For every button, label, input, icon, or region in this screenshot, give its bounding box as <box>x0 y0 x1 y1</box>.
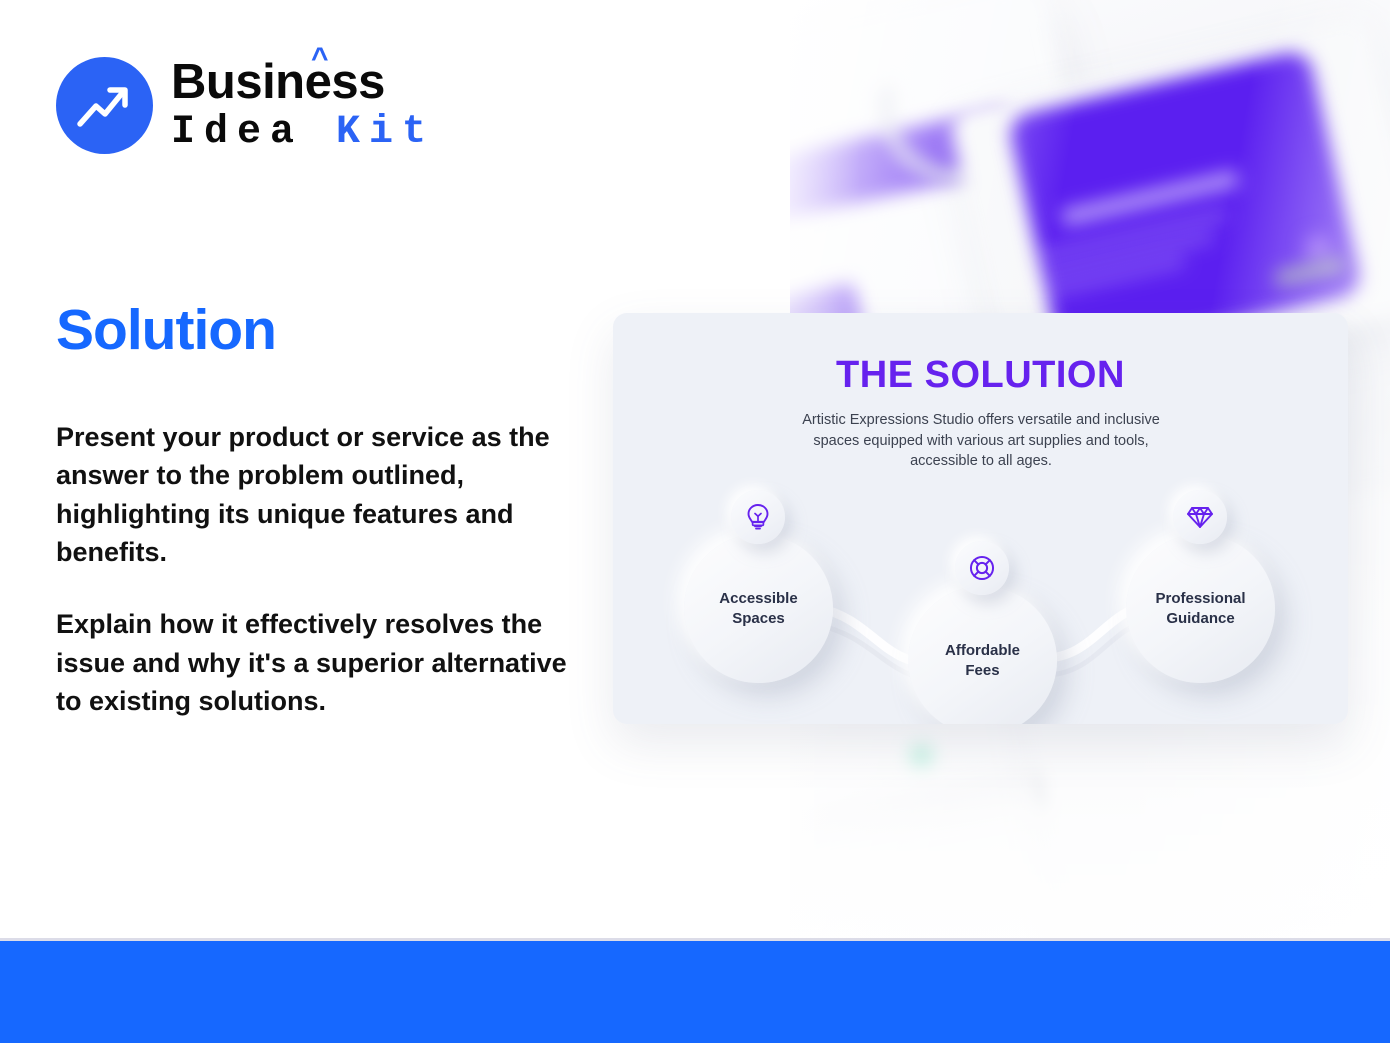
lightbulb-icon <box>731 490 785 544</box>
bubble-label-2-line2: Fees <box>965 662 999 679</box>
bubble-professional-guidance[interactable]: Professional Guidance <box>1126 534 1275 683</box>
bubble-affordable-fees[interactable]: Affordable Fees <box>908 586 1057 724</box>
solution-card: THE SOLUTION Artistic Expressions Studio… <box>613 313 1348 724</box>
brand-wordmark: Business ^ Idea Kit <box>171 58 435 153</box>
bubble-label-3-line2: Guidance <box>1166 610 1234 627</box>
brand-line-2-dark: Idea <box>171 110 303 155</box>
bubble-label-1-line1: Accessible <box>719 590 797 607</box>
brand-line-1: Business ^ <box>171 58 435 107</box>
bubble-label-3: Professional Guidance <box>1155 589 1245 627</box>
bubble-label-1-line2: Spaces <box>732 610 785 627</box>
footer-bar <box>0 941 1390 1043</box>
brand-circumflex-accent: ^ <box>311 44 328 74</box>
body-paragraph-1: Present your product or service as the a… <box>56 418 586 571</box>
body-copy: Present your product or service as the a… <box>56 418 586 720</box>
slide-root: Business ^ Idea Kit Solution Present you… <box>0 0 1390 1043</box>
diamond-icon <box>1173 490 1227 544</box>
page-title: Solution <box>56 297 276 363</box>
body-paragraph-2: Explain how it effectively resolves the … <box>56 605 586 720</box>
growth-arrow-circle-icon <box>56 57 153 154</box>
bubble-label-3-line1: Professional <box>1155 590 1245 607</box>
bubble-accessible-spaces[interactable]: Accessible Spaces <box>684 534 833 683</box>
bubble-label-1: Accessible Spaces <box>719 589 797 627</box>
brand-line-1-text: Business <box>171 55 385 109</box>
brand-logo: Business ^ Idea Kit <box>56 57 435 154</box>
brand-line-2: Idea Kit <box>171 113 435 153</box>
brand-line-2-accent: Kit <box>336 110 435 155</box>
bubble-label-2: Affordable Fees <box>945 641 1020 679</box>
bubble-label-2-line1: Affordable <box>945 642 1020 659</box>
lifebuoy-icon <box>955 541 1009 595</box>
